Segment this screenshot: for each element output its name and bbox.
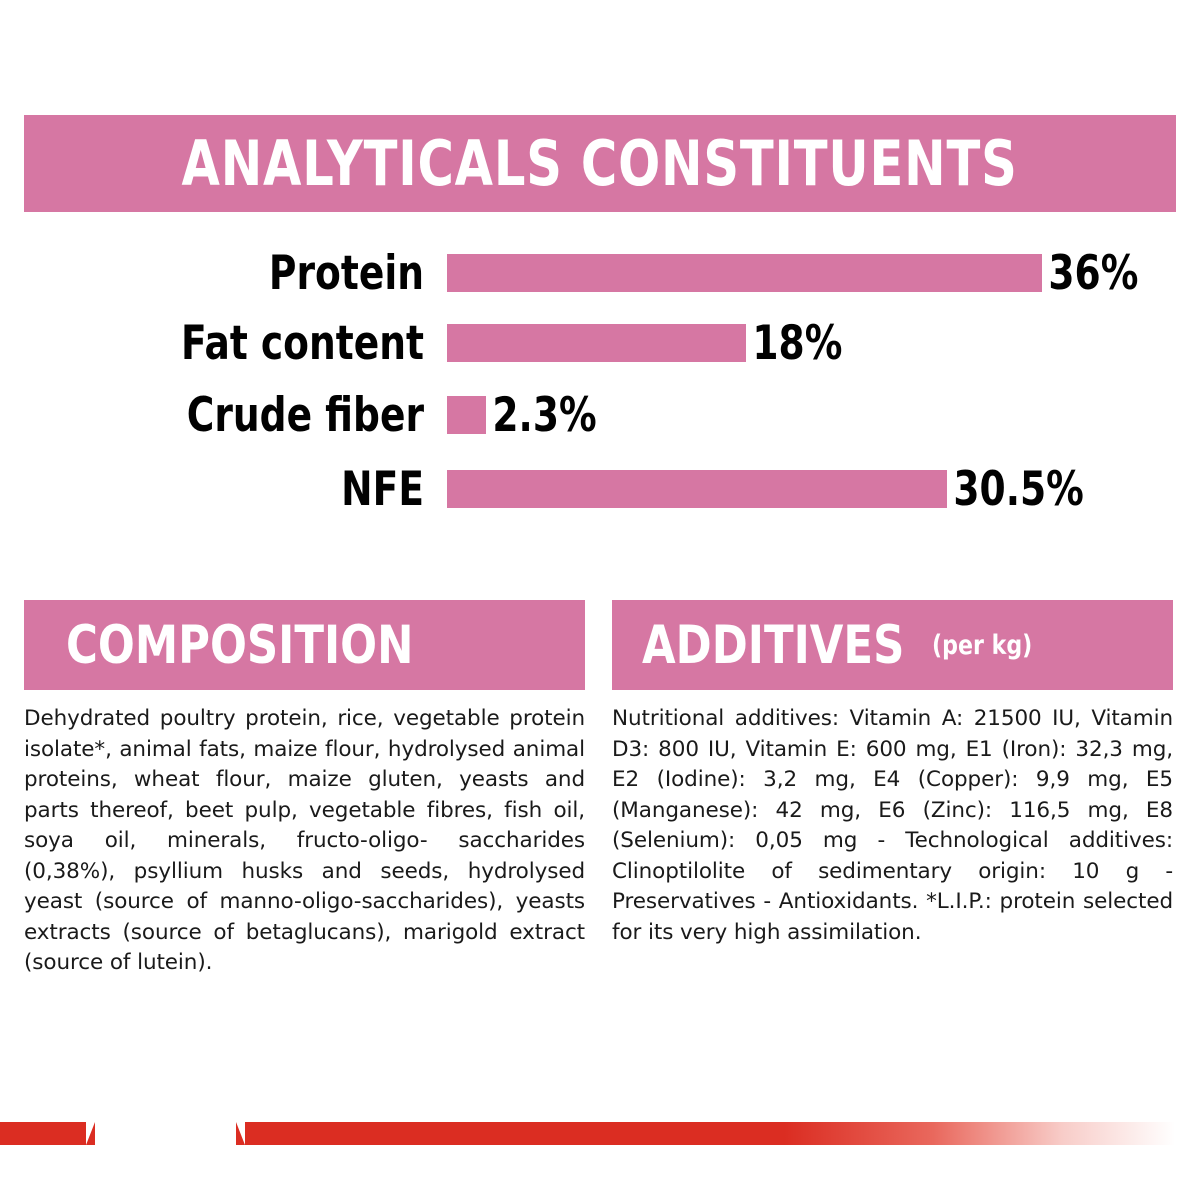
chart-row: Protein 36% xyxy=(24,242,1176,304)
bar-track: 36% xyxy=(424,242,1176,304)
composition-banner: COMPOSITION xyxy=(24,600,585,690)
bar-fill xyxy=(447,470,947,508)
bar-category-label: Protein xyxy=(104,250,424,297)
bar-value-label: 36% xyxy=(1042,250,1138,297)
page-title: ANALYTICALS CONSTITUENTS xyxy=(182,133,1018,195)
additives-heading-suffix: (per kg) xyxy=(932,632,1032,659)
bar-track: 18% xyxy=(424,312,1176,374)
analyticals-constituents-banner: ANALYTICALS CONSTITUENTS xyxy=(24,115,1176,212)
analyticals-bar-chart: Protein 36% Fat content 18% Crude fiber … xyxy=(24,236,1176,542)
composition-heading: COMPOSITION xyxy=(66,619,414,672)
footer-rule-right xyxy=(245,1122,1175,1145)
additives-heading: ADDITIVES xyxy=(642,619,904,672)
chart-row: Fat content 18% xyxy=(24,312,1176,374)
footer-rule-left xyxy=(0,1122,86,1145)
bar-fill xyxy=(447,324,746,362)
bar-value-label: 18% xyxy=(746,320,842,367)
bar-category-label: Fat content xyxy=(104,320,424,367)
bar-fill xyxy=(447,396,486,434)
additives-banner: ADDITIVES (per kg) xyxy=(612,600,1173,690)
chart-row: NFE 30.5% xyxy=(24,458,1176,520)
bar-track: 30.5% xyxy=(424,458,1176,520)
additives-column: ADDITIVES (per kg) Nutritional additives… xyxy=(612,600,1173,948)
bar-category-label: Crude fiber xyxy=(104,392,424,439)
bar-fill xyxy=(447,254,1042,292)
bar-category-label: NFE xyxy=(104,466,424,513)
composition-text: Dehydrated poultry protein, rice, vegeta… xyxy=(24,704,585,979)
bar-value-label: 2.3% xyxy=(486,392,597,439)
composition-column: COMPOSITION Dehydrated poultry protein, … xyxy=(24,600,585,979)
bar-value-label: 30.5% xyxy=(947,466,1084,513)
bar-track: 2.3% xyxy=(424,384,1176,446)
nutrition-label-page: ANALYTICALS CONSTITUENTS Protein 36% Fat… xyxy=(0,0,1200,1200)
additives-text: Nutritional additives: Vitamin A: 21500 … xyxy=(612,704,1173,948)
chart-row: Crude fiber 2.3% xyxy=(24,384,1176,446)
brand-footer xyxy=(0,1090,1200,1200)
